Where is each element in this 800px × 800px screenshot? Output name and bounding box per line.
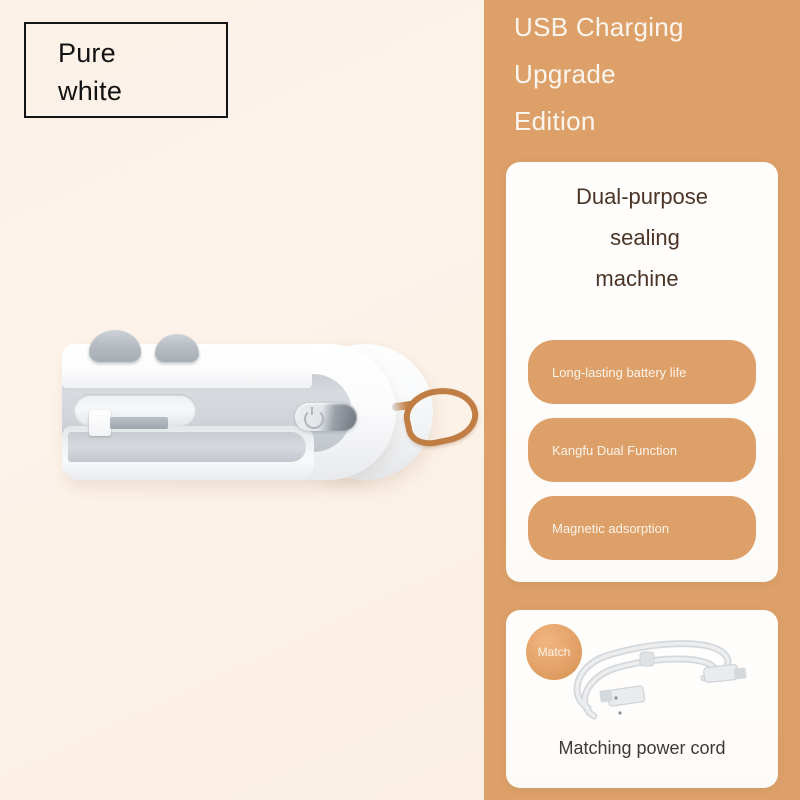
feature-card-title-line2: sealing xyxy=(506,217,778,258)
product-detail-image: Pure white USB Charging Upgrade Editio xyxy=(0,0,800,800)
headline-line1: USB Charging xyxy=(514,4,790,51)
feature-pill-battery-label: Long-lasting battery life xyxy=(528,363,702,382)
feature-card: Dual-purpose sealing machine Long-lastin… xyxy=(506,162,778,582)
power-cord-card: Match xyxy=(506,610,778,788)
feature-card-title-line3: machine xyxy=(506,258,778,299)
product-photo-sealing-machine xyxy=(52,310,472,510)
dome-knob-icon-left xyxy=(89,330,141,362)
usb-cable-icon xyxy=(554,616,770,728)
color-swatch-label-line1: Pure xyxy=(58,34,226,72)
headline-line3: Edition xyxy=(514,98,790,145)
feature-pill-battery: Long-lasting battery life xyxy=(528,340,756,404)
feature-pill-dual-function-label: Kangfu Dual Function xyxy=(528,441,693,460)
right-panel: USB Charging Upgrade Edition Dual-purpos… xyxy=(484,0,800,800)
color-swatch-label-line2: white xyxy=(58,72,226,110)
power-icon xyxy=(304,409,324,429)
product-heating-element xyxy=(89,410,111,436)
feature-card-title-line1: Dual-purpose xyxy=(506,176,778,217)
product-lower-jaw-inner xyxy=(68,432,306,462)
product-heating-bar xyxy=(110,417,168,429)
feature-pill-dual-function: Kangfu Dual Function xyxy=(528,418,756,482)
feature-pill-magnetic-label: Magnetic adsorption xyxy=(528,519,685,538)
color-swatch-label-box: Pure white xyxy=(24,22,228,118)
feature-card-title: Dual-purpose sealing machine xyxy=(506,176,778,299)
feature-pill-magnetic: Magnetic adsorption xyxy=(528,496,756,560)
power-cord-caption: Matching power cord xyxy=(506,738,778,759)
headline: USB Charging Upgrade Edition xyxy=(514,4,790,145)
dome-knob-icon-right xyxy=(155,334,199,362)
usb-a-connector xyxy=(599,686,645,707)
left-panel: Pure white xyxy=(0,0,484,800)
micro-usb-connector xyxy=(703,664,746,682)
headline-line2: Upgrade xyxy=(514,51,790,98)
